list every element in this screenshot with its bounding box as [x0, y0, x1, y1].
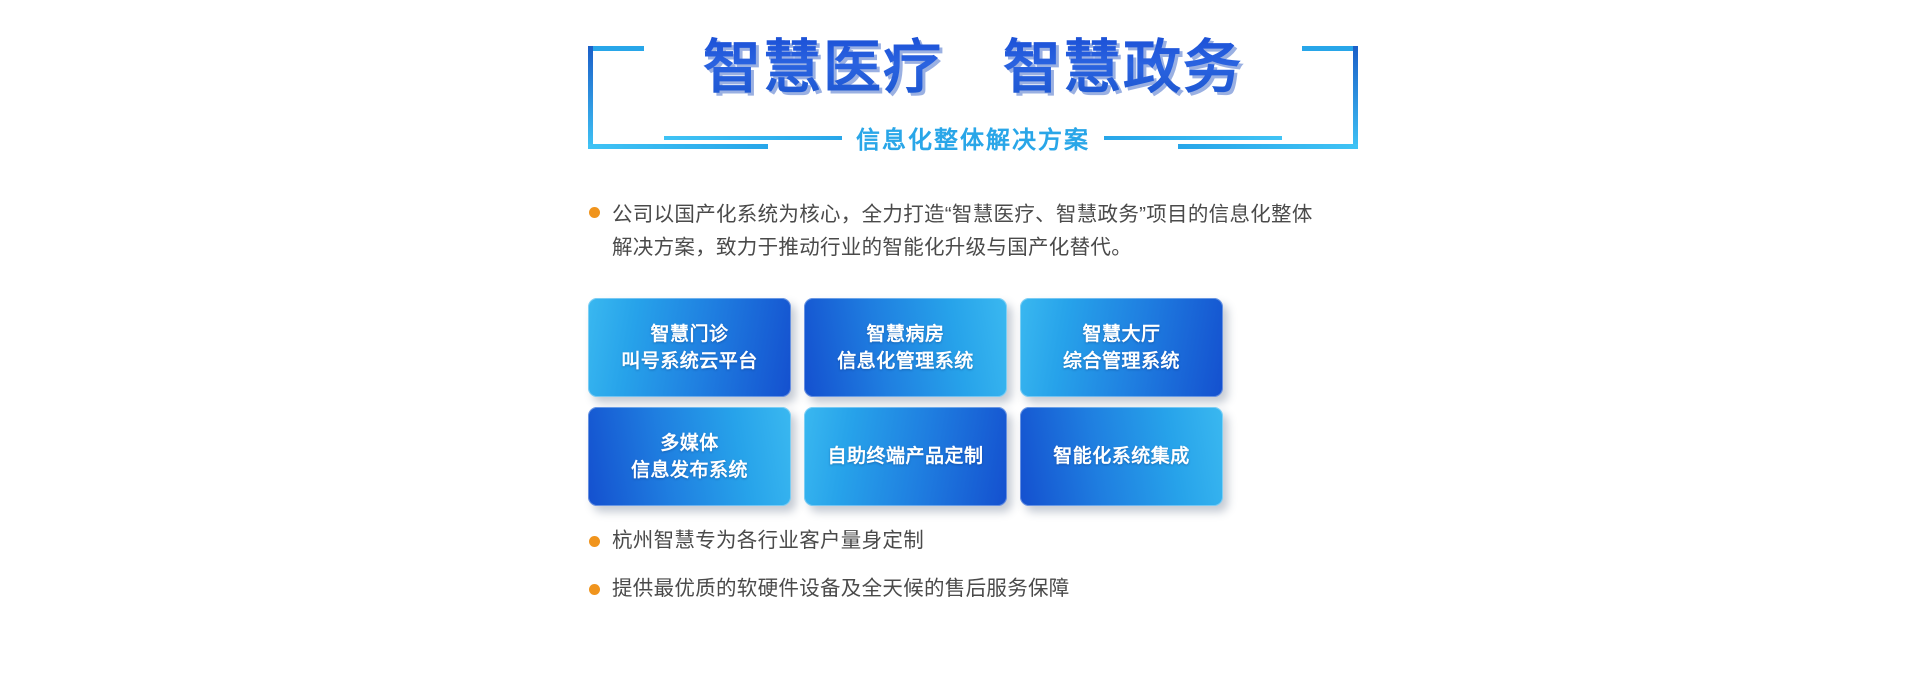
- card-label: 智能化系统集成: [1045, 443, 1198, 470]
- bullet-dot-icon: [589, 536, 600, 547]
- solution-card-multimedia[interactable]: 多媒体 信息发布系统: [588, 407, 791, 506]
- footer-bullet-item: 杭州智慧专为各行业客户量身定制: [589, 528, 1349, 554]
- intro-paragraph: 公司以国产化系统为核心，全力打造“智慧医疗、智慧政务”项目的信息化整体解决方案，…: [589, 198, 1349, 264]
- intro-text: 公司以国产化系统为核心，全力打造“智慧医疗、智慧政务”项目的信息化整体解决方案，…: [612, 198, 1332, 264]
- solution-card-smart-hall[interactable]: 智慧大厅 综合管理系统: [1020, 298, 1223, 397]
- header: 智慧医疗 智慧政务 信息化整体解决方案: [588, 34, 1358, 149]
- footer-bullets: 杭州智慧专为各行业客户量身定制 提供最优质的软硬件设备及全天候的售后服务保障: [589, 528, 1349, 624]
- bullet-dot-icon: [589, 207, 600, 218]
- bullet-dot-icon: [589, 584, 600, 595]
- card-label: 多媒体 信息发布系统: [623, 430, 756, 484]
- subtitle-rule-left: [664, 136, 842, 140]
- subtitle-rule-right: [1104, 136, 1282, 140]
- solution-card-system-integration[interactable]: 智能化系统集成: [1020, 407, 1223, 506]
- subtitle-row: 信息化整体解决方案: [588, 120, 1358, 155]
- card-label: 自助终端产品定制: [819, 443, 991, 470]
- solution-card-smart-outpatient[interactable]: 智慧门诊 叫号系统云平台: [588, 298, 791, 397]
- page-title: 智慧医疗 智慧政务: [703, 34, 1243, 102]
- page-subtitle: 信息化整体解决方案: [856, 120, 1090, 155]
- footer-bullet-text: 杭州智慧专为各行业客户量身定制: [612, 528, 924, 554]
- solution-card-smart-ward[interactable]: 智慧病房 信息化管理系统: [804, 298, 1007, 397]
- footer-bullet-text: 提供最优质的软硬件设备及全天候的售后服务保障: [612, 576, 1070, 602]
- promo-banner: 智慧医疗 智慧政务 信息化整体解决方案 公司以国产化系统为核心，全力打造“智慧医…: [0, 0, 1920, 680]
- solution-card-grid: 智慧门诊 叫号系统云平台 智慧病房 信息化管理系统 智慧大厅 综合管理系统 多媒…: [588, 298, 1223, 506]
- card-label: 智慧病房 信息化管理系统: [829, 321, 982, 375]
- card-label: 智慧大厅 综合管理系统: [1055, 321, 1188, 375]
- card-label: 智慧门诊 叫号系统云平台: [613, 321, 766, 375]
- solution-card-self-service-terminal[interactable]: 自助终端产品定制: [804, 407, 1007, 506]
- footer-bullet-item: 提供最优质的软硬件设备及全天候的售后服务保障: [589, 576, 1349, 602]
- title-row: 智慧医疗 智慧政务: [588, 34, 1358, 102]
